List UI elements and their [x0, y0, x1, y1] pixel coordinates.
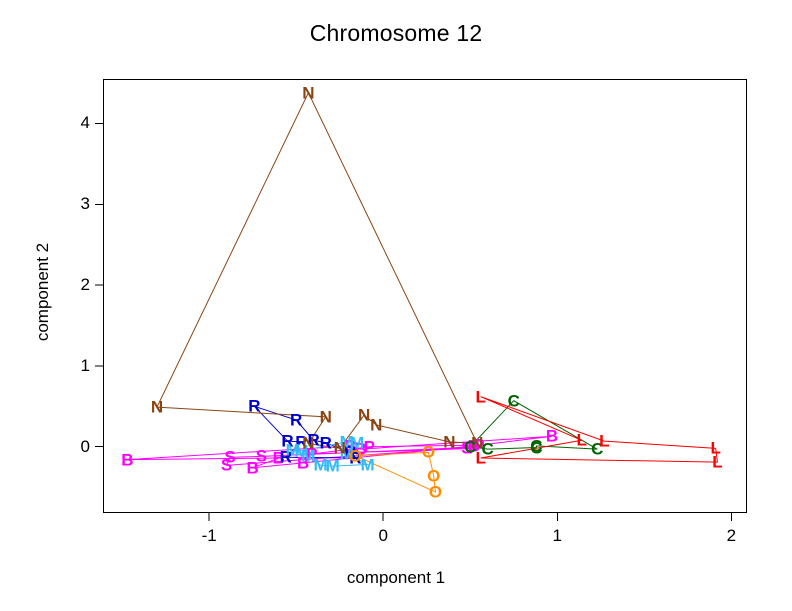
data-point-c: C	[530, 437, 542, 454]
y-tick-label: 1	[81, 356, 90, 376]
data-point-l: L	[475, 450, 485, 467]
data-point-o: O	[429, 483, 442, 500]
data-point-l: L	[712, 454, 722, 471]
data-point-n: N	[358, 407, 370, 424]
y-tick-label: 0	[81, 437, 90, 457]
data-point-l: L	[599, 433, 609, 450]
data-point-n: N	[302, 435, 314, 452]
y-tick-label: 4	[81, 113, 90, 133]
data-point-m: M	[326, 458, 340, 475]
data-point-n: N	[151, 399, 163, 416]
data-point-l: L	[576, 432, 586, 449]
data-point-o: O	[349, 447, 362, 464]
data-point-s: S	[256, 448, 267, 465]
y-axis-title: component 2	[33, 192, 53, 392]
data-point-c: C	[508, 392, 520, 409]
x-tick-label: -1	[202, 526, 217, 546]
plot-page: Chromosome 12 -101201234 BBBBBBBBSSSSPPP…	[0, 0, 792, 611]
data-point-b: B	[546, 428, 558, 445]
y-tick-label: 3	[81, 194, 90, 214]
data-point-n: N	[370, 416, 382, 433]
data-point-b: B	[121, 451, 133, 468]
data-point-s: S	[221, 457, 232, 474]
data-point-l: L	[475, 388, 485, 405]
y-tick-label: 2	[81, 275, 90, 295]
data-point-n: N	[334, 440, 346, 457]
data-point-r: R	[290, 412, 302, 429]
data-point-m: M	[360, 456, 374, 473]
data-point-p: P	[364, 438, 375, 455]
x-tick-label: 1	[553, 526, 562, 546]
x-axis-title: component 1	[0, 568, 792, 588]
data-point-r: R	[248, 398, 260, 415]
data-point-n: N	[443, 433, 455, 450]
x-tick-label: 2	[727, 526, 736, 546]
data-point-n: N	[320, 408, 332, 425]
data-point-n: N	[302, 84, 314, 101]
data-point-r: R	[320, 434, 332, 451]
x-tick-label: 0	[378, 526, 387, 546]
data-point-o: O	[422, 444, 435, 461]
